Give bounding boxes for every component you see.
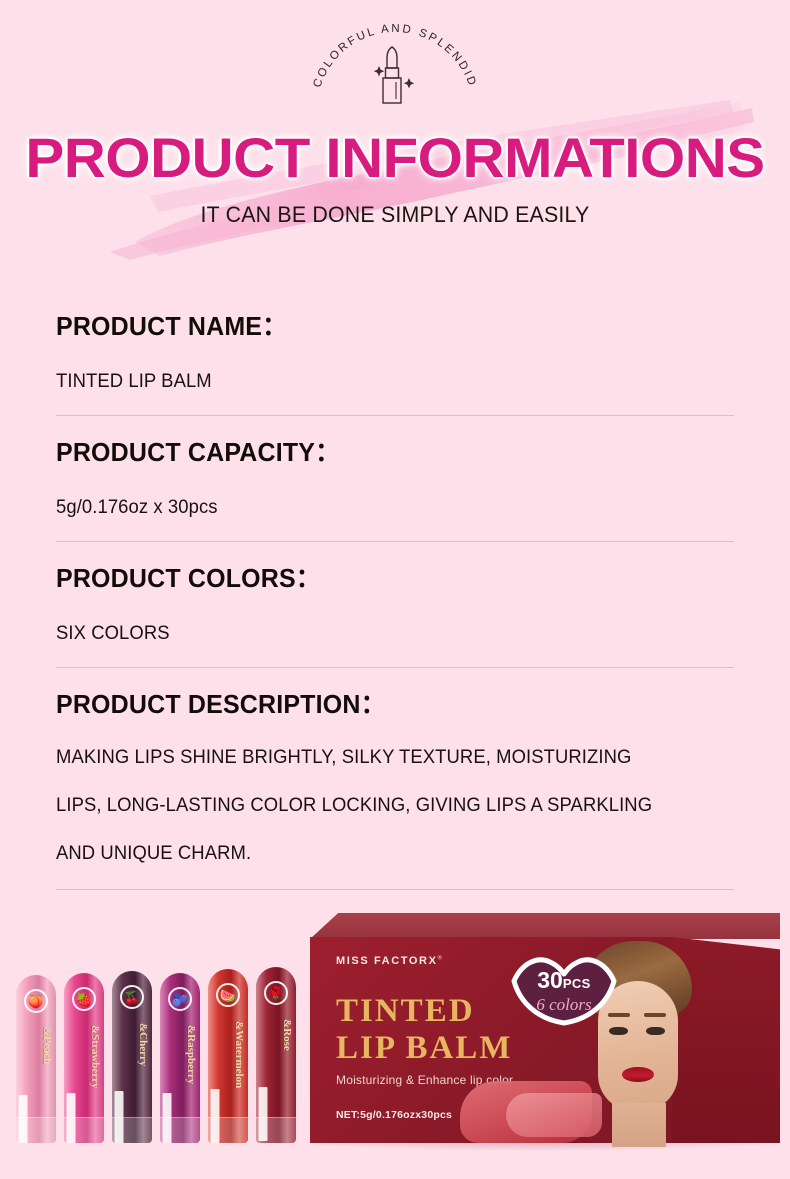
- model-neck: [612, 1103, 666, 1147]
- tube-cap: [208, 1117, 248, 1143]
- tube-flavor: &Rose: [281, 1019, 293, 1051]
- tube-cap: [160, 1117, 200, 1143]
- page-subtitle: IT CAN BE DONE SIMPLY AND EASILY: [12, 202, 778, 228]
- tube-cap: [112, 1117, 152, 1143]
- watermelon-icon: 🍉: [216, 983, 240, 1007]
- description-line: MAKING LIPS SHINE BRIGHTLY, SILKY TEXTUR…: [56, 747, 714, 769]
- box-brand: MISS FACTORX®: [336, 955, 444, 967]
- spec-list: PRODUCT NAME： TINTED LIP BALM PRODUCT CA…: [56, 306, 734, 890]
- tube-flavor: &Strawberry: [89, 1025, 101, 1089]
- box-title-line2: LIP BALM: [336, 1030, 512, 1067]
- description-line: LIPS, LONG-LASTING COLOR LOCKING, GIVING…: [56, 795, 714, 817]
- badge-colors: 6 colors: [508, 995, 620, 1015]
- description-line: AND UNIQUE CHARM.: [56, 843, 714, 865]
- lipstick-swatch-highlight: [506, 1093, 602, 1137]
- badge-count: 30: [537, 967, 563, 993]
- quantity-badge: 30PCS 6 colors: [508, 945, 620, 1027]
- spec-value-name: TINTED LIP BALM: [56, 371, 714, 393]
- product-information-page: COLORFUL AND SPLENDID: [0, 0, 790, 1179]
- spec-label-capacity: PRODUCT CAPACITY：: [56, 432, 707, 469]
- header-block: PRODUCT INFORMATIONS IT CAN BE DONE SIMP…: [0, 128, 790, 228]
- spec-row-name: PRODUCT NAME： TINTED LIP BALM: [56, 306, 734, 416]
- badge-count-unit: PCS: [563, 976, 591, 991]
- tube-flavor: &Cherry: [137, 1023, 149, 1066]
- spec-value-colors: SIX COLORS: [56, 623, 714, 645]
- spec-row-description: PRODUCT DESCRIPTION： MAKING LIPS SHINE B…: [56, 684, 734, 890]
- spec-value-capacity: 5g/0.176oz x 30pcs: [56, 497, 714, 519]
- raspberry-icon: 🫐: [168, 987, 192, 1011]
- model-eye: [646, 1027, 665, 1035]
- registered-mark: ®: [438, 955, 444, 961]
- spec-row-capacity: PRODUCT CAPACITY： 5g/0.176oz x 30pcs: [56, 432, 734, 542]
- box-title-line1: TINTED: [336, 993, 512, 1030]
- model-eye: [609, 1027, 628, 1035]
- page-title: PRODUCT INFORMATIONS: [0, 128, 790, 188]
- model-lips: [622, 1067, 654, 1082]
- tube-cap: [16, 1117, 56, 1143]
- box-title: TINTED LIP BALM: [336, 993, 512, 1067]
- box-net-weight: NET:5g/0.176ozx30pcs: [336, 1109, 452, 1121]
- brand-logo: COLORFUL AND SPLENDID: [0, 18, 790, 118]
- box-front-face: MISS FACTORX® TINTED LIP BALM Moisturizi…: [310, 937, 672, 1143]
- strawberry-icon: 🍓: [72, 987, 96, 1011]
- lip-balm-tube: 🫐 Tinted Lip Balm &Raspberry: [160, 973, 200, 1143]
- tube-flavor: &Watermelon: [233, 1021, 245, 1088]
- rose-icon: 🌹: [264, 981, 288, 1005]
- lip-balm-tube: 🍒 Tinted Lip Balm &Cherry: [112, 971, 152, 1143]
- tube-cap: [64, 1117, 104, 1143]
- product-photo: 🍑 Tinted Lip Balm &Peach 🍓 Tinted Lip Ba…: [0, 905, 790, 1179]
- divider: [56, 889, 734, 890]
- lipstick-icon: [373, 44, 417, 106]
- tube-flavor: &Peach: [41, 1027, 53, 1064]
- tube-cap: [256, 1117, 296, 1143]
- product-box: MISS FACTORX® TINTED LIP BALM Moisturizi…: [310, 933, 780, 1143]
- tube-flavor: &Raspberry: [185, 1025, 197, 1084]
- box-top-face: [310, 913, 780, 939]
- lip-balm-tube: 🍓 Tinted Lip Balm &Strawberry: [64, 973, 104, 1143]
- lip-balm-tube: 🍉 Tinted Lip Balm &Watermelon: [208, 969, 248, 1143]
- lip-balm-tube: 🌹 Tinted Lip Balm &Rose: [256, 967, 296, 1143]
- box-brand-text: MISS FACTORX: [336, 955, 438, 967]
- spec-row-colors: PRODUCT COLORS： SIX COLORS: [56, 558, 734, 668]
- cherry-icon: 🍒: [120, 985, 144, 1009]
- badge-count-wrap: 30PCS: [508, 967, 620, 994]
- spec-label-name: PRODUCT NAME：: [56, 306, 707, 343]
- model-brow: [644, 1013, 666, 1017]
- lip-balm-tube: 🍑 Tinted Lip Balm &Peach: [16, 975, 56, 1143]
- peach-icon: 🍑: [24, 989, 48, 1013]
- spec-label-description: PRODUCT DESCRIPTION：: [56, 684, 707, 721]
- spec-label-colors: PRODUCT COLORS：: [56, 558, 707, 595]
